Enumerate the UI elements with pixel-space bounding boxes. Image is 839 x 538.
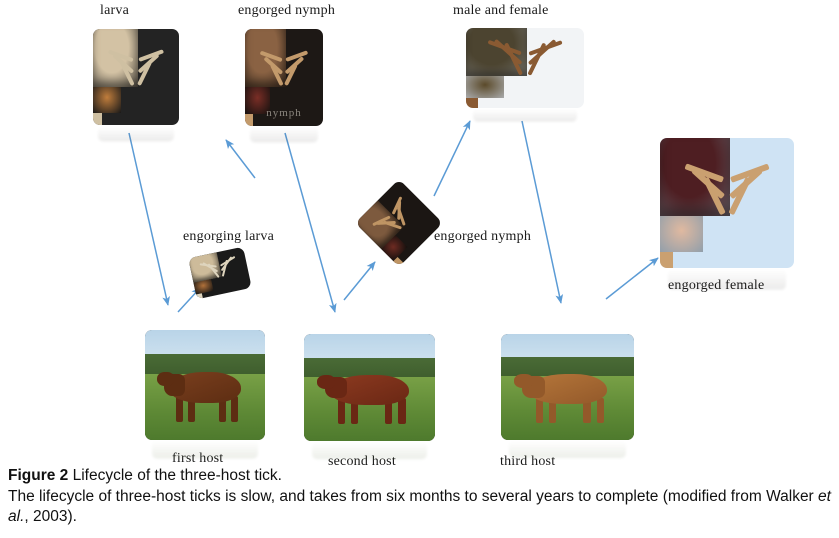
larva-photo: [93, 29, 179, 125]
caption-body-part1: The lifecycle of three-host ticks is slo…: [8, 488, 818, 505]
third-host-to-engorged-female: [606, 258, 658, 299]
larva-to-first-host: [129, 133, 168, 305]
engorged-nymph-rotated-photo: [355, 179, 443, 267]
cow: [145, 330, 265, 440]
tick-legs: [466, 28, 584, 108]
photo-inner: [355, 179, 443, 267]
tick-leg: [504, 42, 523, 75]
cow: [304, 334, 435, 441]
cow-leg: [597, 398, 604, 423]
tick-leg: [527, 42, 546, 75]
caption-figure-number: Figure 2: [8, 467, 68, 484]
photo-inner: [188, 247, 252, 300]
label-engorged-female: engorged female: [668, 278, 764, 294]
nymph-to-male-female: [434, 121, 470, 196]
tick-legs: [355, 179, 443, 267]
caption-title: Lifecycle of the three-host tick.: [68, 467, 282, 484]
cow-head: [157, 372, 174, 386]
tick-leg: [284, 64, 298, 87]
cow-head: [514, 374, 533, 388]
photo-inner: [93, 29, 179, 125]
label-male-and-female: male and female: [453, 3, 549, 19]
tick-legs: [93, 29, 179, 125]
second-host-photo: [304, 334, 435, 441]
tick-legs: [660, 138, 794, 268]
engorging-larva-photo: [188, 247, 252, 300]
figure-caption: Figure 2 Lifecycle of the three-host tic…: [8, 466, 832, 528]
second-host-to-nymph-rotated: [344, 262, 375, 300]
engorged-nymph-to-second-host: [285, 133, 335, 312]
first-host-to-engorged-nymph: [226, 140, 255, 178]
male-female-to-third-host: [522, 121, 561, 303]
label-engorging-larva: engorging larva: [183, 229, 274, 245]
label-engorged-nymph-mid: engorged nymph: [434, 229, 531, 245]
cow-leg: [398, 398, 405, 424]
third-host-photo: [501, 334, 634, 440]
engorged-female-photo: [660, 138, 794, 268]
tick-legs: [188, 247, 252, 300]
label-larva: larva: [100, 3, 129, 19]
cow-head: [317, 375, 335, 389]
photo-reflection: [98, 126, 174, 141]
label-engorged-nymph-top: engorged nymph: [238, 3, 335, 19]
figure-container: larva engorged nymph male and female eng…: [0, 0, 839, 538]
nymph-watermark: nymph: [245, 107, 323, 119]
male-female-photo: [466, 28, 584, 108]
cow: [501, 334, 634, 440]
photo-reflection: [250, 127, 319, 143]
first-host-photo: [145, 330, 265, 440]
photo-reflection: [473, 109, 577, 122]
cow-leg: [231, 396, 238, 422]
caption-body-part2: , 2003).: [24, 508, 77, 525]
photo-inner: [466, 28, 584, 108]
label-first-host: first host: [172, 451, 223, 467]
photo-inner: [660, 138, 794, 268]
